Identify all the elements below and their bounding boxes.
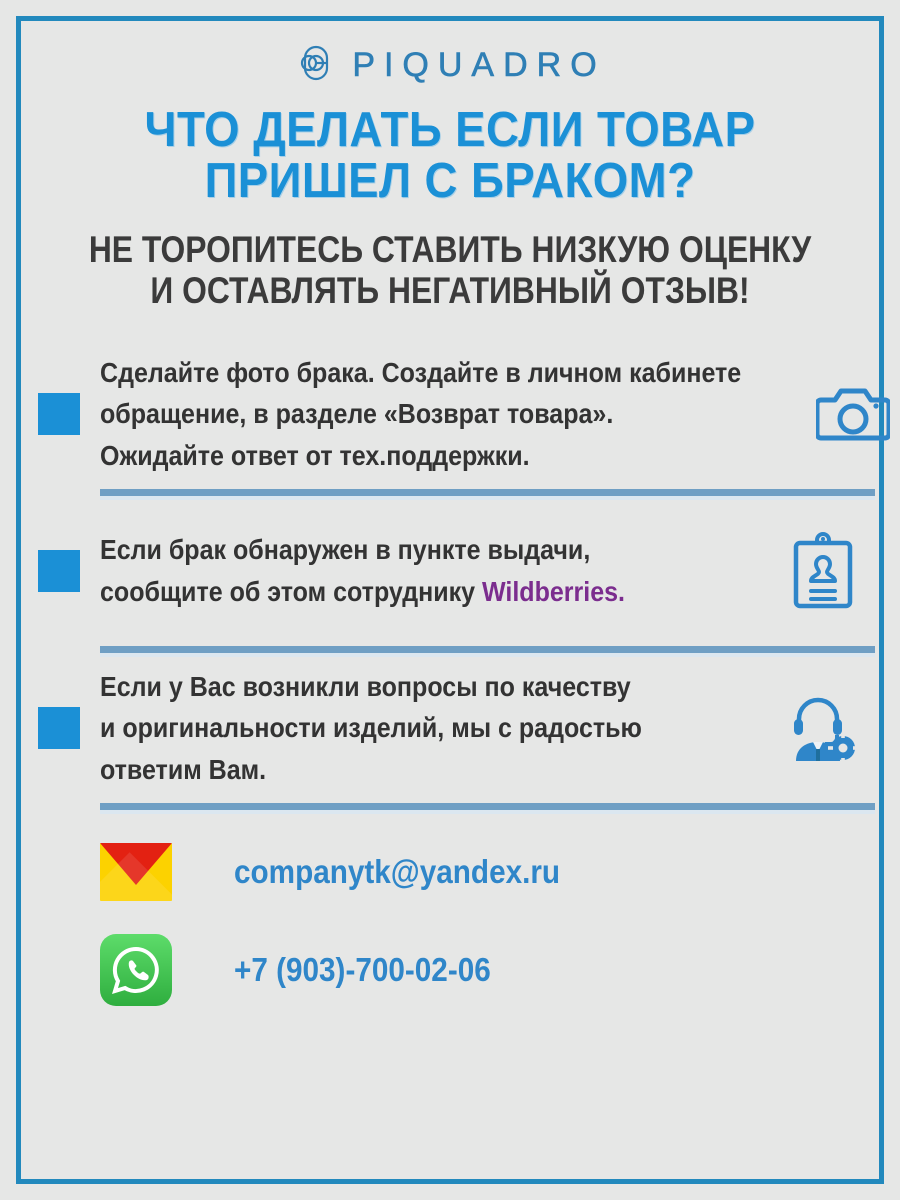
id-badge-icon: [775, 532, 871, 610]
page-title: ЧТО ДЕЛАТЬ ЕСЛИ ТОВАР ПРИШЕЛ С БРАКОМ?: [51, 105, 849, 208]
step-body-2: Если брак обнаружен в пункте выдачи, соо…: [100, 529, 879, 613]
contacts-section: companytk@yandex.ru: [21, 810, 879, 1024]
step-item-2: Если брак обнаружен в пункте выдачи, соо…: [21, 496, 879, 646]
step-text-1: Сделайте фото брака. Создайте в личном к…: [100, 352, 741, 477]
yandex-mail-icon: [100, 843, 186, 901]
title-line-2: ПРИШЕЛ С БРАКОМ?: [51, 156, 849, 207]
subtitle-line-2: И ОСТАВЛЯТЬ НЕГАТИВНЫЙ ОТЗЫВ!: [81, 271, 819, 312]
brand-logo: PIQUADRO: [294, 41, 605, 89]
steps-list: Сделайте фото брака. Создайте в личном к…: [21, 339, 879, 1179]
step-2-line-2: сообщите об этом сотруднику Wildberries.: [100, 571, 714, 613]
step-text-2: Если брак обнаружен в пункте выдачи, соо…: [100, 529, 714, 613]
step-item-3: Если у Вас возникли вопросы по качеству …: [21, 653, 879, 803]
step-body-3: Если у Вас возникли вопросы по качеству …: [100, 666, 879, 791]
bullet-square-icon: [38, 550, 80, 592]
step-1-line-3: Ожидайте ответ от тех.поддержки.: [100, 435, 741, 477]
divider-3: [100, 803, 875, 810]
step-3-line-3: ответим Вам.: [100, 749, 714, 791]
step-item-1: Сделайте фото брака. Создайте в личном к…: [21, 339, 879, 489]
whatsapp-icon: [100, 934, 186, 1006]
step-body-1: Сделайте фото брака. Создайте в личном к…: [100, 352, 900, 477]
step-text-3: Если у Вас возникли вопросы по качеству …: [100, 666, 714, 791]
subtitle-line-1: НЕ ТОРОПИТЕСЬ СТАВИТЬ НИЗКУЮ ОЦЕНКУ: [81, 230, 819, 271]
step-2-line-1: Если брак обнаружен в пункте выдачи,: [100, 529, 714, 571]
step-2-line-2-text: сообщите об этом сотруднику: [100, 576, 482, 607]
step-3-line-2: и оригинальности изделий, мы с радостью: [100, 707, 714, 749]
step-3-line-1: Если у Вас возникли вопросы по качеству: [100, 666, 714, 708]
divider-2: [100, 646, 875, 653]
piquadro-monogram-icon: [294, 42, 336, 89]
title-line-1: ЧТО ДЕЛАТЬ ЕСЛИ ТОВАР: [51, 105, 849, 156]
support-agent-icon: [775, 693, 871, 763]
page-subtitle: НЕ ТОРОПИТЕСЬ СТАВИТЬ НИЗКУЮ ОЦЕНКУ И ОС…: [81, 230, 819, 311]
step-1-line-1: Сделайте фото брака. Создайте в личном к…: [100, 352, 741, 394]
divider-1: [100, 489, 875, 496]
contact-row-whatsapp[interactable]: +7 (903)-700-02-06: [100, 926, 879, 1014]
camera-icon: [805, 384, 900, 444]
info-card: PIQUADRO ЧТО ДЕЛАТЬ ЕСЛИ ТОВАР ПРИШЕЛ С …: [16, 16, 884, 1184]
wildberries-label: Wildberries.: [482, 576, 625, 607]
contact-row-email[interactable]: companytk@yandex.ru: [100, 828, 879, 916]
email-value[interactable]: companytk@yandex.ru: [234, 853, 560, 891]
phone-value[interactable]: +7 (903)-700-02-06: [234, 951, 491, 989]
brand-name: PIQUADRO: [352, 48, 605, 82]
step-1-line-2: обращение, в разделе «Возврат товара».: [100, 393, 741, 435]
bullet-square-icon: [38, 393, 80, 435]
bullet-square-icon: [38, 707, 80, 749]
